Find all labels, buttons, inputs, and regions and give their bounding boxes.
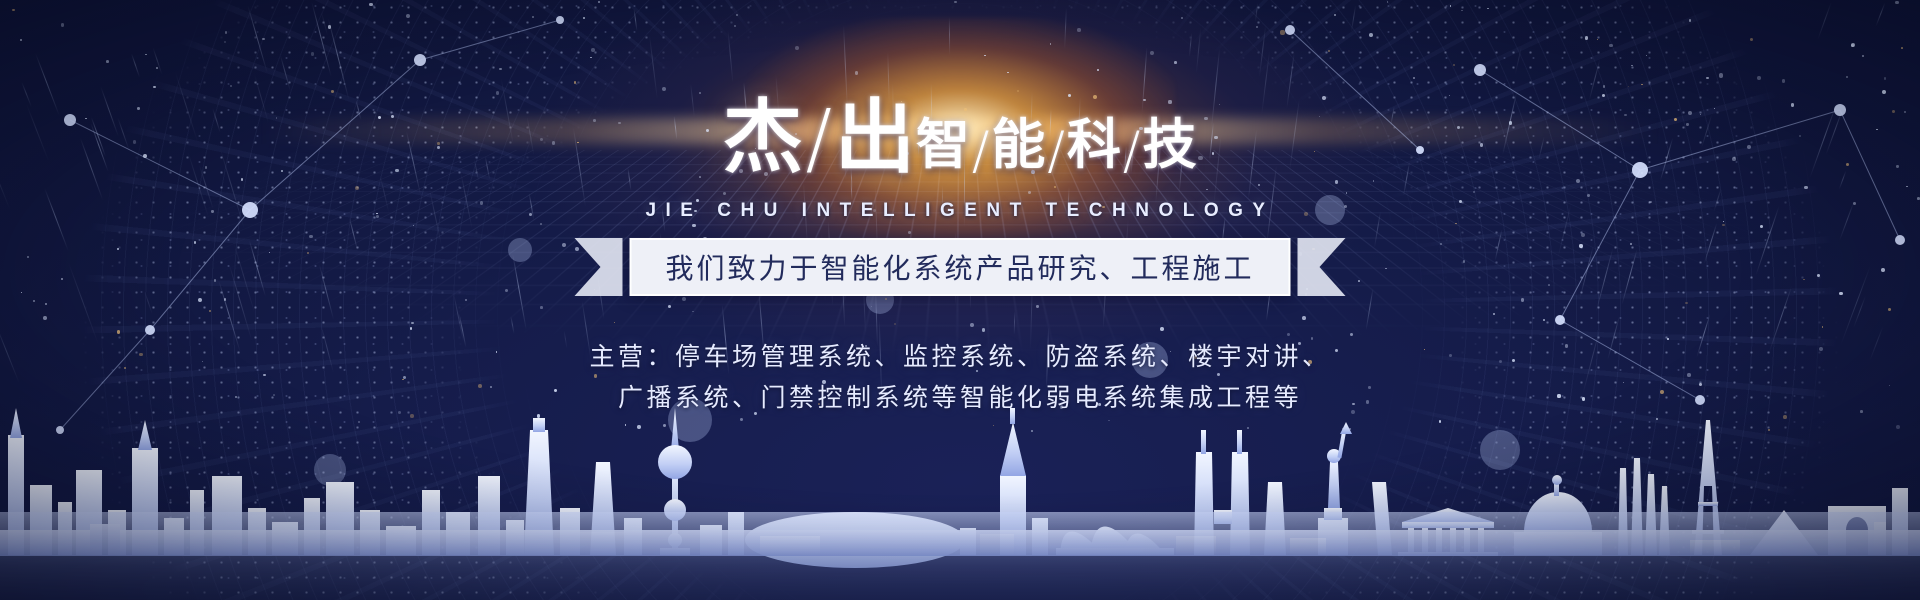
title-char-7: 科 bbox=[1067, 118, 1122, 177]
slogan-ribbon: 我们致力于智能化系统产品研究、工程施工 bbox=[574, 238, 1345, 296]
ribbon-tail-left bbox=[574, 238, 622, 296]
ribbon-tail-right bbox=[1298, 238, 1346, 296]
business-scope-line-1: 主营：停车场管理系统、监控系统、防盗系统、楼宇对讲、 bbox=[589, 337, 1330, 373]
hero-banner: 杰/出智/能/科/技 JIE CHU INTELLIGENT TECHNOLOG… bbox=[0, 0, 1920, 600]
title-char-5: 能 bbox=[991, 118, 1046, 177]
title-char-8: / bbox=[1122, 125, 1143, 177]
title-char-6: / bbox=[1046, 125, 1067, 177]
title-char-1: / bbox=[804, 102, 835, 177]
ribbon-body: 我们致力于智能化系统产品研究、工程施工 bbox=[629, 238, 1290, 296]
title-char-4: / bbox=[971, 125, 992, 177]
english-tagline: JIE CHU INTELLIGENT TECHNOLOGY bbox=[645, 200, 1274, 222]
page-title: 杰/出智/能/科/技 bbox=[723, 100, 1198, 177]
title-char-0: 杰 bbox=[723, 100, 804, 177]
title-char-9: 技 bbox=[1142, 118, 1197, 177]
water-reflection bbox=[0, 512, 1920, 600]
title-char-2: 出 bbox=[835, 100, 916, 177]
ribbon-slogan-text: 我们致力于智能化系统产品研究、工程施工 bbox=[665, 247, 1254, 287]
title-char-3: 智 bbox=[916, 118, 971, 177]
